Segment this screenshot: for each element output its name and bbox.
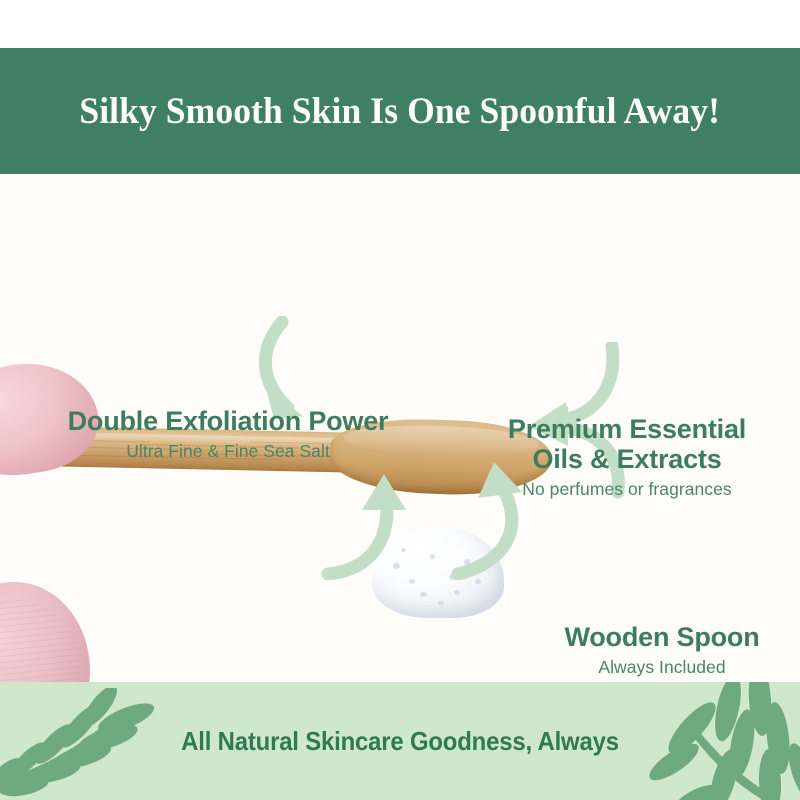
feature-subtitle: No perfumes or fragrances [462, 478, 792, 501]
feature-title: Double Exfoliation Power [18, 406, 438, 436]
infographic-canvas: Silky Smooth Skin Is One Spoonful Away! [0, 0, 800, 800]
page-title: Silky Smooth Skin Is One Spoonful Away! [80, 90, 721, 133]
arrow-to-spoon-from-lower-left [318, 470, 438, 580]
feature-title: Premium Essential Oils & Extracts [462, 414, 792, 474]
feature-double-exfoliation: Double Exfoliation Power Ultra Fine & Fi… [18, 406, 438, 463]
feature-title: Wooden Spoon [524, 622, 800, 652]
header-band: Silky Smooth Skin Is One Spoonful Away! [0, 48, 800, 174]
footer-tagline: All Natural Skincare Goodness, Always [32, 682, 768, 800]
feature-premium-oils: Premium Essential Oils & Extracts No per… [462, 414, 792, 501]
top-margin [0, 0, 800, 48]
feature-subtitle: Ultra Fine & Fine Sea Salt [18, 440, 438, 463]
feature-subtitle: Always Included [524, 656, 800, 679]
main-content-area: Double Exfoliation Power Ultra Fine & Fi… [0, 174, 800, 682]
finger-lower-image [0, 577, 96, 682]
feature-wooden-spoon: Wooden Spoon Always Included [524, 622, 800, 679]
footer-band: All Natural Skincare Goodness, Always [0, 682, 800, 800]
